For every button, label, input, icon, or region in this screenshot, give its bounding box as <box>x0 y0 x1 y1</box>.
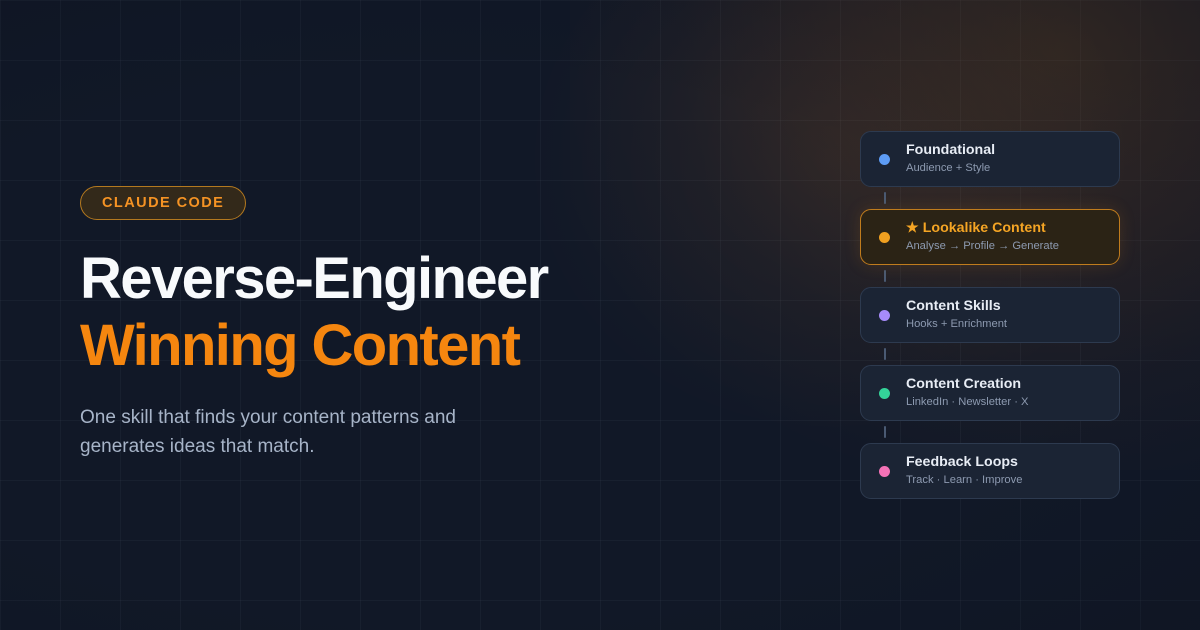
page-title: Reverse-Engineer Winning Content <box>80 250 680 375</box>
pipeline-node-title: Content Creation <box>906 376 1029 394</box>
status-dot-icon <box>879 310 890 321</box>
pipeline-node-subtitle: LinkedIn · Newsletter · X <box>906 396 1029 409</box>
pipeline-connector <box>860 421 1120 443</box>
hero-subtitle: One skill that finds your content patter… <box>80 404 500 461</box>
connector-line <box>884 426 886 438</box>
pipeline-node-text: Content CreationLinkedIn · Newsletter · … <box>906 376 1029 409</box>
pipeline-node-card[interactable]: ★Lookalike ContentAnalyse → Profile → Ge… <box>860 209 1120 265</box>
hero-section: CLAUDE CODE Reverse-Engineer Winning Con… <box>80 186 680 461</box>
pipeline-connector <box>860 265 1120 287</box>
pipeline-node-title: Content Skills <box>906 298 1007 316</box>
headline-line-primary: Reverse-Engineer <box>80 250 680 308</box>
pipeline-node-card[interactable]: Feedback LoopsTrack · Learn · Improve <box>860 443 1120 499</box>
pipeline-node-subtitle: Track · Learn · Improve <box>906 474 1022 487</box>
pipeline-node-title: Foundational <box>906 142 995 160</box>
headline-line-accent: Winning Content <box>80 317 680 375</box>
pipeline-node-text: ★Lookalike ContentAnalyse → Profile → Ge… <box>906 220 1059 253</box>
pipeline-node-text: Feedback LoopsTrack · Learn · Improve <box>906 454 1022 487</box>
pipeline-node-subtitle: Hooks + Enrichment <box>906 318 1007 331</box>
pipeline-node-card[interactable]: Content CreationLinkedIn · Newsletter · … <box>860 365 1120 421</box>
pipeline-list: FoundationalAudience + Style★Lookalike C… <box>860 131 1120 499</box>
connector-line <box>884 348 886 360</box>
pipeline-node-subtitle: Audience + Style <box>906 162 995 175</box>
pipeline-node-card[interactable]: Content SkillsHooks + Enrichment <box>860 287 1120 343</box>
status-dot-icon <box>879 154 890 165</box>
pipeline-node-card[interactable]: FoundationalAudience + Style <box>860 131 1120 187</box>
brand-badge: CLAUDE CODE <box>80 186 246 220</box>
slide-stage: CLAUDE CODE Reverse-Engineer Winning Con… <box>0 0 1200 630</box>
pipeline-connector <box>860 343 1120 365</box>
pipeline-node-text: Content SkillsHooks + Enrichment <box>906 298 1007 331</box>
pipeline-node-subtitle: Analyse → Profile → Generate <box>906 240 1059 253</box>
pipeline-node-text: FoundationalAudience + Style <box>906 142 995 175</box>
pipeline-node-title: ★Lookalike Content <box>906 220 1059 238</box>
pipeline-connector <box>860 187 1120 209</box>
star-icon: ★ <box>906 220 919 236</box>
status-dot-icon <box>879 232 890 243</box>
status-dot-icon <box>879 466 890 477</box>
connector-line <box>884 192 886 204</box>
pipeline-node-title: Feedback Loops <box>906 454 1022 472</box>
status-dot-icon <box>879 388 890 399</box>
connector-line <box>884 270 886 282</box>
